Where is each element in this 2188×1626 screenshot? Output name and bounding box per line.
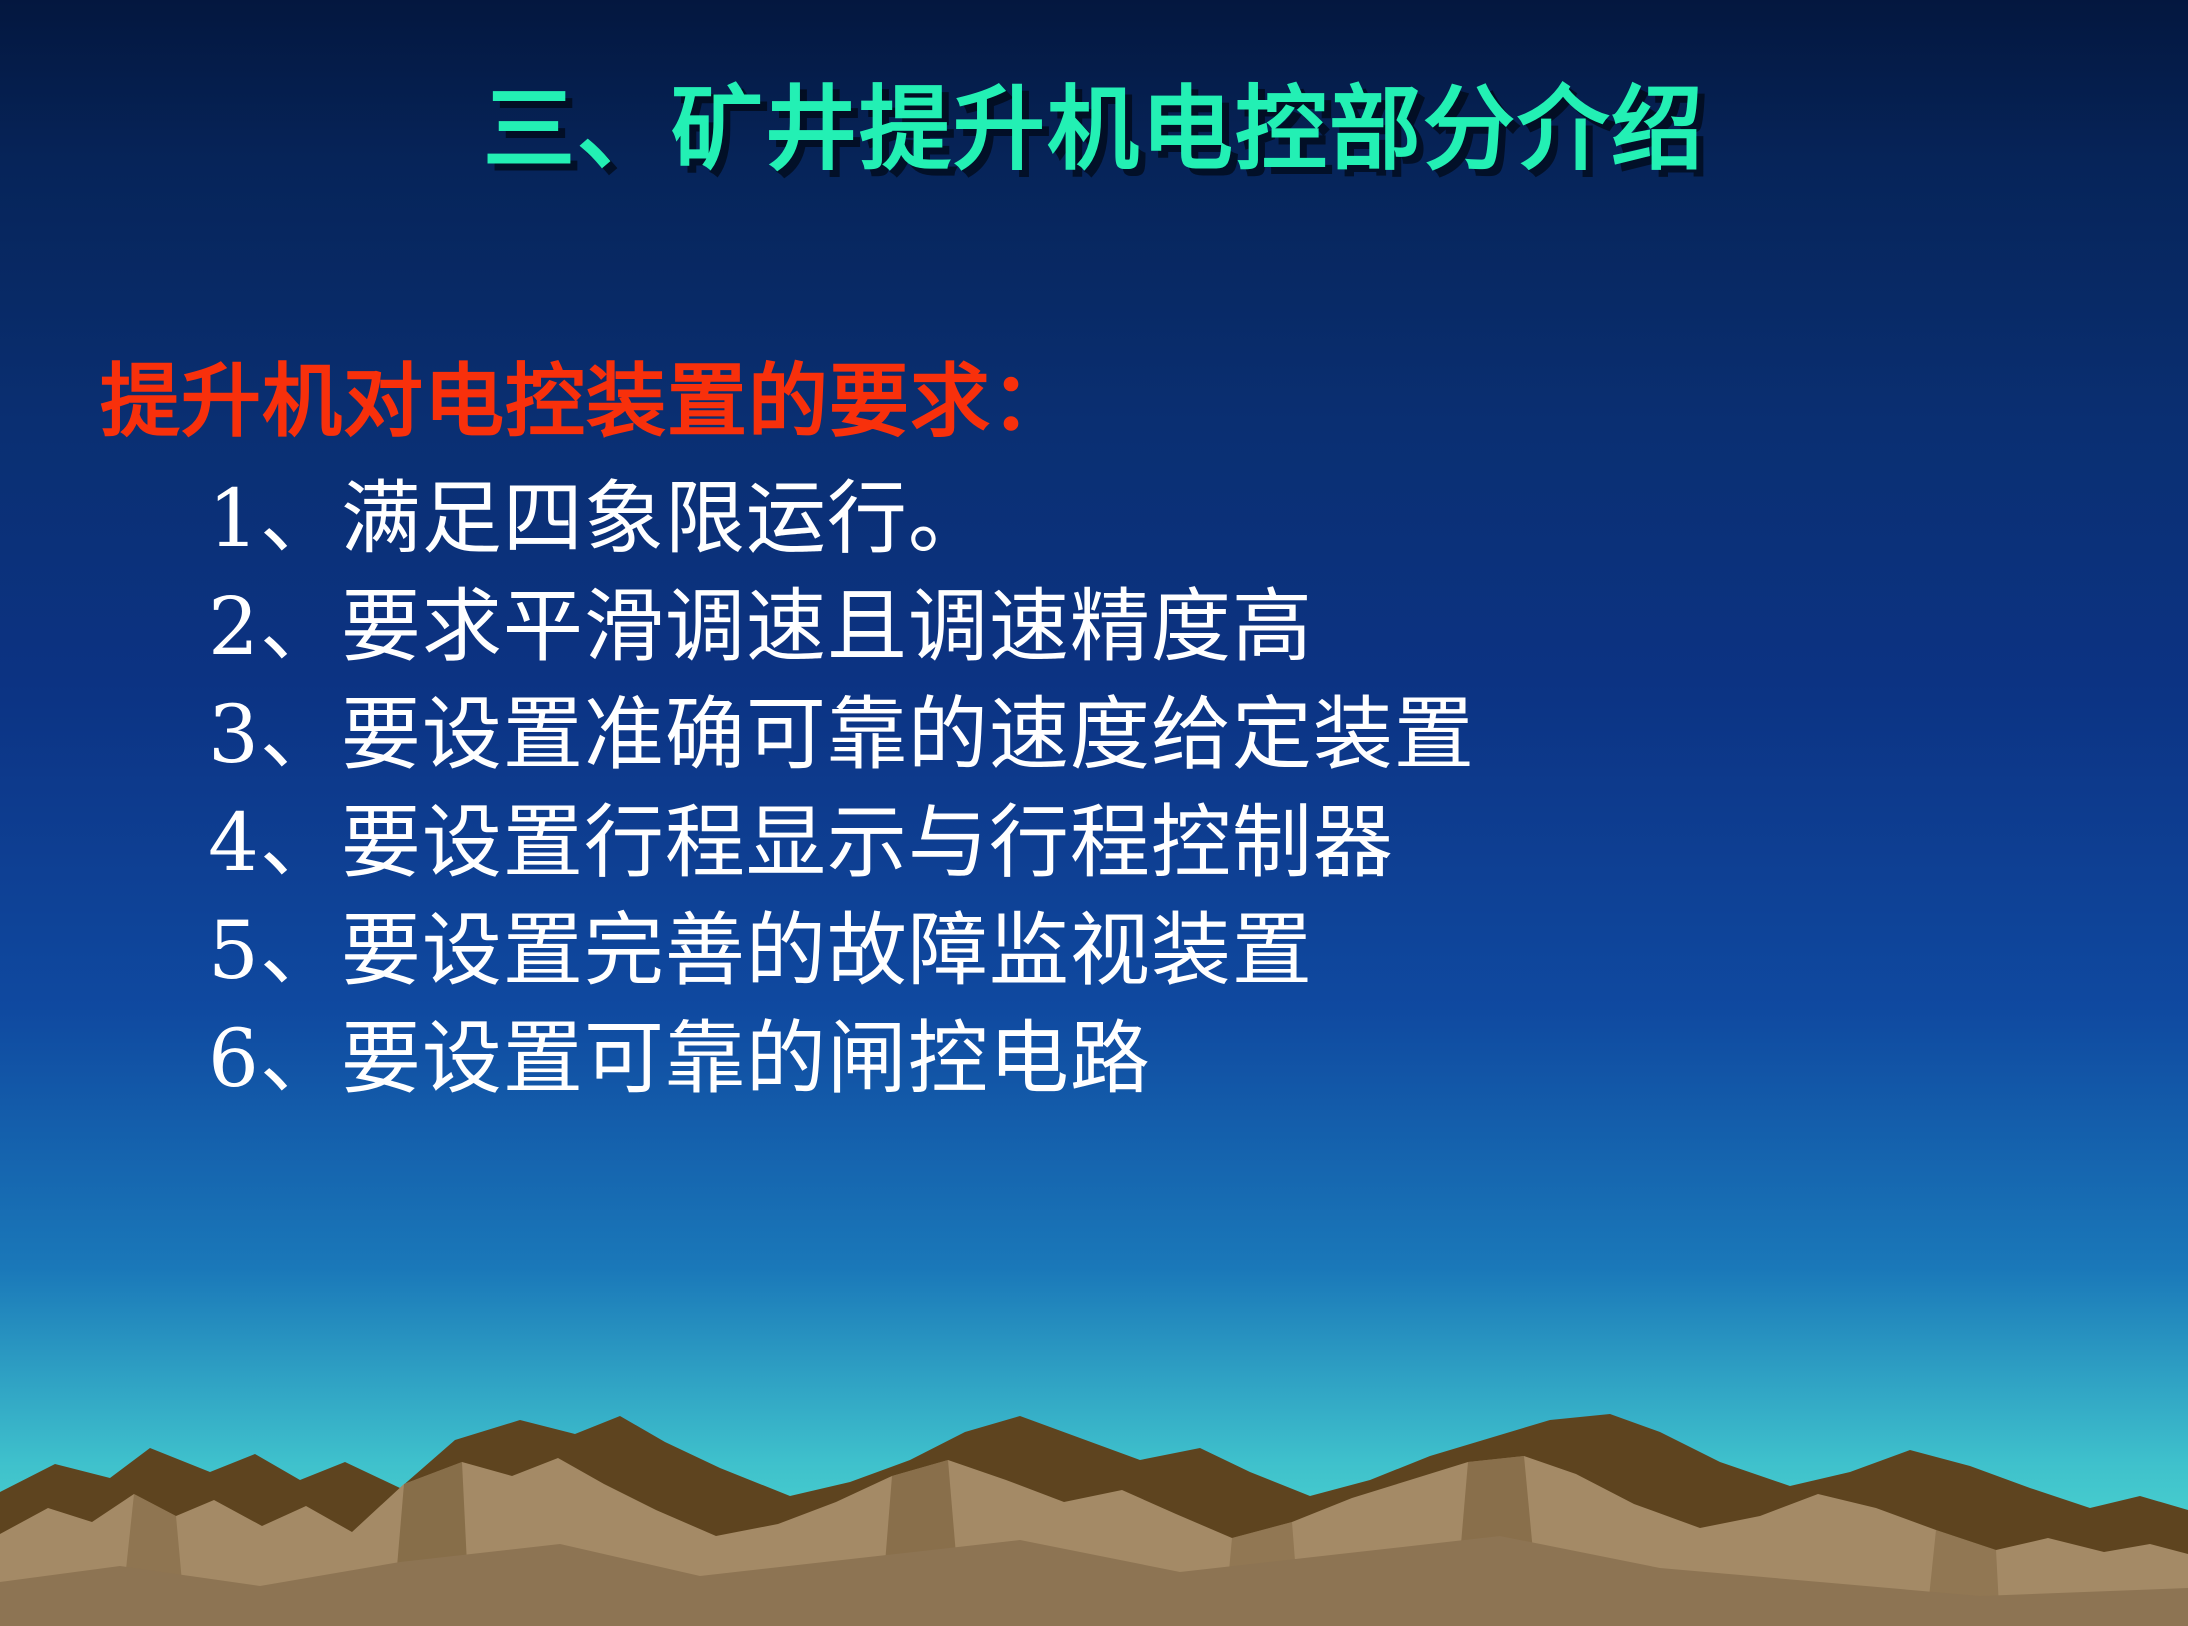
slide-title: 三、矿井提升机电控部分介绍 — [0, 78, 2188, 181]
list-item: 2、要求平滑调速且调速精度高 — [0, 587, 2188, 667]
list-item: 5、要设置完善的故障监视装置 — [0, 911, 2188, 991]
list-item: 4、要设置行程显示与行程控制器 — [0, 803, 2188, 883]
list-item: 1、满足四象限运行。 — [0, 479, 2188, 559]
slide-canvas: 三、矿井提升机电控部分介绍 提升机对电控装置的要求： 1、满足四象限运行。 2、… — [0, 0, 2188, 1626]
list-item: 6、要设置可靠的闸控电路 — [0, 1019, 2188, 1099]
requirements-heading: 提升机对电控装置的要求： — [0, 355, 2188, 447]
list-item: 3、要设置准确可靠的速度给定装置 — [0, 695, 2188, 775]
requirements-list: 1、满足四象限运行。 2、要求平滑调速且调速精度高 3、要设置准确可靠的速度给定… — [0, 479, 2188, 1099]
slide-body: 提升机对电控装置的要求： 1、满足四象限运行。 2、要求平滑调速且调速精度高 3… — [0, 355, 2188, 1099]
mountain-range-icon — [0, 1376, 2188, 1626]
horizon-decoration — [0, 1376, 2188, 1626]
